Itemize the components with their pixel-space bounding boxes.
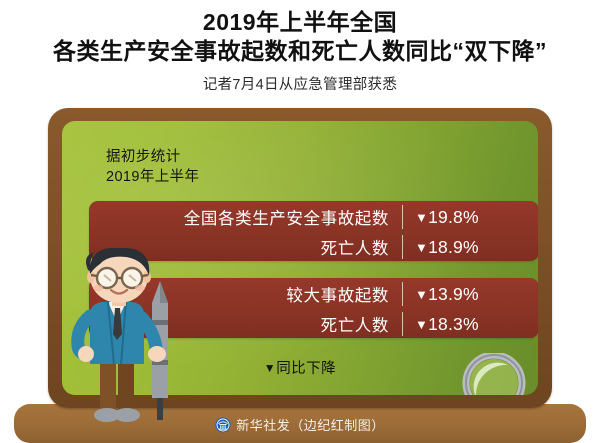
down-triangle-icon: ▼ [415, 210, 428, 225]
stat-number: 18.9% [428, 237, 479, 257]
page-subtitle: 记者7月4日从应急管理部获悉 [0, 65, 600, 94]
credit-text: 新华社发（边纪红制图） [236, 415, 385, 434]
down-triangle-icon: ▼ [415, 317, 428, 332]
row-divider [402, 282, 403, 306]
magnifier-icon [460, 353, 538, 395]
table-row: 全国各类生产安全事故起数 ▼19.8% [89, 202, 538, 232]
stat-number: 13.9% [428, 284, 479, 304]
row-divider [402, 312, 403, 336]
row-divider [402, 235, 403, 259]
header: 2019年上半年全国 各类生产安全事故起数和死亡人数同比“双下降” 记者7月4日… [0, 0, 600, 94]
down-triangle-icon: ▼ [264, 361, 276, 375]
row-divider [402, 205, 403, 229]
stat-value: ▼18.3% [403, 314, 538, 335]
stat-label: 全国各类生产安全事故起数 [89, 205, 402, 229]
xinhua-logo-icon [215, 417, 231, 433]
infographic-board: 据初步统计 2019年上半年 全国各类生产安全事故起数 ▼19.8% 死亡人数 … [0, 108, 600, 443]
page-title-line-1: 2019年上半年全国 [0, 0, 600, 36]
page-title-line-2: 各类生产安全事故起数和死亡人数同比“双下降” [0, 36, 600, 65]
stat-value: ▼19.8% [403, 207, 538, 228]
down-triangle-icon: ▼ [415, 287, 428, 302]
stat-number: 18.3% [428, 314, 479, 334]
stat-value: ▼13.9% [403, 284, 538, 305]
stat-value: ▼18.9% [403, 237, 538, 258]
credit-line: 新华社发（边纪红制图） [0, 415, 600, 434]
down-triangle-icon: ▼ [415, 240, 428, 255]
stat-number: 19.8% [428, 207, 479, 227]
legend-label: 同比下降 [276, 361, 336, 377]
student-illustration [64, 248, 184, 426]
board-note: 据初步统计 2019年上半年 [106, 147, 199, 187]
